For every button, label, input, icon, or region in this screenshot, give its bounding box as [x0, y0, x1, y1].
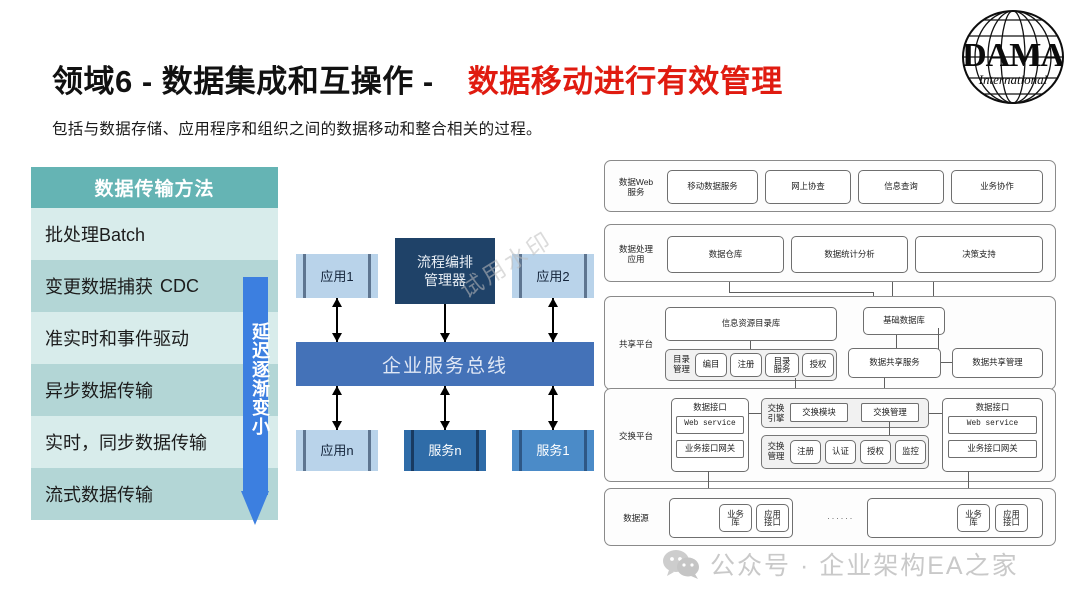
connector-horizontal [729, 292, 874, 293]
arrow-head-up [440, 386, 450, 395]
arch-box-title: 数据接口 [976, 403, 1010, 413]
esb-node-orchestration-manager[interactable]: 流程编排 管理器 [395, 238, 495, 304]
arch-box-exchange-management-top[interactable]: 交换管理 [861, 403, 919, 422]
arrow-head [241, 491, 269, 525]
node-label-line2: 管理器 [424, 271, 466, 289]
arch-box-business-db-right[interactable]: 业务库 [957, 504, 990, 532]
arch-box-data-interface-right[interactable]: 数据接口 [942, 398, 1043, 472]
methods-table-header: 数据传输方法 [31, 167, 278, 208]
arch-box-business-gateway-right[interactable]: 业务接口网关 [948, 440, 1037, 458]
layer-label-share-platform: 共享平台 [613, 339, 659, 349]
arrow-head-down [548, 333, 558, 342]
node-edge-bar [303, 254, 306, 298]
arch-box-app-interface-left[interactable]: 应用接口 [756, 504, 789, 532]
arch-box-business-db-left[interactable]: 业务库 [719, 504, 752, 532]
esb-node-app2[interactable]: 应用2 [512, 254, 594, 298]
connector-bus-servicen [440, 386, 451, 430]
method-label: 变更数据捕获 [45, 273, 153, 299]
dama-international-logo: DAMA International [954, 4, 1072, 110]
arch-box-register-ex[interactable]: 注册 [790, 440, 821, 464]
arch-box-register[interactable]: 注册 [730, 353, 762, 377]
arch-box-data-share-service[interactable]: 数据共享服务 [848, 348, 941, 378]
arch-box-authorization[interactable]: 授权 [802, 353, 834, 377]
layer-label-exchange-platform: 交换平台 [613, 431, 659, 441]
arch-box-decision-support[interactable]: 决策支持 [915, 236, 1043, 273]
data-exchange-architecture-diagram: 数据Web 服务 移动数据服务 网上协查 信息查询 业务协作 数据处理 应用 [604, 160, 1056, 552]
layer-label-data-source: 数据源 [613, 513, 659, 523]
wechat-watermark: 公众号 · 企业架构EA之家 [662, 546, 1019, 582]
esb-diagram: 应用1 流程编排 管理器 应用2 企业服务总线 [296, 238, 594, 490]
node-edge-bar [584, 254, 587, 298]
method-label: 批处理Batch [45, 221, 145, 247]
arrow-head-up [332, 298, 342, 307]
arch-layer-web-service: 数据Web 服务 移动数据服务 网上协查 信息查询 业务协作 [604, 160, 1056, 212]
page-title: 领域6 - 数据集成和互操作 - 数据移动进行有效管理 [52, 56, 783, 101]
arch-group-label-exchange-engine: 交换引擎 [765, 404, 787, 423]
node-edge-bar [303, 430, 306, 471]
node-label: 服务n [428, 443, 461, 458]
arch-layer-data-source: 数据源 业务库 应用接口 ······ 业务库 应用接口 [604, 488, 1056, 546]
arrow-head-down [440, 333, 450, 342]
connector-vertical [938, 328, 939, 349]
latency-decreasing-arrow: 延迟逐渐变小 [241, 277, 270, 525]
arrow-head-up [548, 386, 558, 395]
node-edge-bar [476, 430, 479, 471]
arch-group-label-exchange-management: 交换管理 [765, 442, 787, 461]
latency-arrow-label: 延迟逐渐变小 [241, 289, 270, 469]
slide-root: 领域6 - 数据集成和互操作 - 数据移动进行有效管理 包括与数据存储、应用程序… [0, 0, 1080, 608]
arch-box-data-interface-left[interactable]: 数据接口 [671, 398, 749, 472]
node-edge-bar [411, 430, 414, 471]
method-label: 实时，同步数据传输 [45, 429, 207, 455]
arch-box-cataloging[interactable]: 编目 [695, 353, 727, 377]
arch-box-catalog-service[interactable]: 目录服务 [765, 353, 799, 377]
arch-box-authorization-ex[interactable]: 授权 [860, 440, 891, 464]
arch-box-online-collab-check[interactable]: 网上协查 [765, 170, 851, 204]
wechat-watermark-text: 公众号 · 企业架构EA之家 [710, 546, 1019, 582]
layer-label-data-processing: 数据处理 应用 [613, 244, 659, 264]
arch-box-monitoring[interactable]: 监控 [895, 440, 926, 464]
method-label-suffix: CDC [160, 276, 199, 297]
esb-node-service1[interactable]: 服务1 [512, 430, 594, 471]
arrow-head-up [548, 298, 558, 307]
node-label: 应用1 [320, 269, 353, 284]
connector-vertical [889, 422, 890, 436]
arch-box-mobile-data-service[interactable]: 移动数据服务 [667, 170, 758, 204]
arrow-head-up [332, 386, 342, 395]
method-label: 异步数据传输 [45, 377, 153, 403]
connector-app1-bus [332, 298, 343, 342]
connector-app2-bus [548, 298, 559, 342]
arch-box-exchange-module[interactable]: 交换模块 [790, 403, 848, 422]
arch-box-data-warehouse[interactable]: 数据仓库 [667, 236, 784, 273]
node-label: 应用n [320, 443, 353, 458]
arch-ellipsis: ······ [827, 513, 854, 523]
arrow-head-down [440, 421, 450, 430]
title-main-text: 领域6 - 数据集成和互操作 - [52, 56, 434, 101]
arch-box-base-database[interactable]: 基础数据库 [863, 307, 945, 335]
arch-box-app-interface-right[interactable]: 应用接口 [995, 504, 1028, 532]
arch-box-business-collab[interactable]: 业务协作 [951, 170, 1043, 204]
connector-horizontal [929, 413, 942, 414]
page-subtitle: 包括与数据存储、应用程序和组织之间的数据移动和整合相关的过程。 [52, 117, 542, 139]
connector-bus-service1 [548, 386, 559, 430]
node-edge-bar [519, 254, 522, 298]
node-label: 应用2 [536, 269, 569, 284]
layer-label-web-service: 数据Web 服务 [613, 177, 659, 197]
method-label: 流式数据传输 [45, 481, 153, 507]
esb-node-appn[interactable]: 应用n [296, 430, 378, 471]
node-edge-bar [368, 430, 371, 471]
node-label-line1: 流程编排 [417, 253, 473, 271]
node-edge-bar [584, 430, 587, 471]
title-highlight-text: 数据移动进行有效管理 [468, 56, 783, 101]
wechat-icon [662, 549, 700, 579]
connector-vertical [896, 335, 897, 349]
arch-layer-share-platform: 共享平台 信息资源目录库 目录管理 编目 注册 目录服务 授权 基础数据库 [604, 296, 1056, 390]
arch-box-business-gateway-left[interactable]: 业务接口网关 [676, 440, 744, 458]
arch-group-label-catalog-management: 目录管理 [669, 355, 694, 374]
enterprise-service-bus[interactable]: 企业服务总线 [296, 342, 594, 386]
arch-box-webservice-left[interactable]: Web service [676, 416, 744, 434]
arch-box-data-statistics[interactable]: 数据统计分析 [791, 236, 908, 273]
arch-box-data-share-management[interactable]: 数据共享管理 [952, 348, 1043, 378]
svg-text:International: International [978, 72, 1048, 87]
node-edge-bar [368, 254, 371, 298]
connector-orchestrator-bus [440, 304, 451, 342]
arrow-head-down [332, 421, 342, 430]
arch-box-info-resource-catalog-db[interactable]: 信息资源目录库 [665, 307, 837, 341]
method-label: 准实时和事件驱动 [45, 325, 189, 351]
node-edge-bar [519, 430, 522, 471]
arch-layer-data-processing: 数据处理 应用 数据仓库 数据统计分析 决策支持 [604, 224, 1056, 282]
arch-box-title: 数据接口 [693, 403, 727, 413]
arch-layer-exchange-platform: 交换平台 数据接口 Web service 业务接口网关 交换引擎 交换模块 交… [604, 388, 1056, 482]
node-label: 服务1 [536, 443, 569, 458]
arrow-head-down [332, 333, 342, 342]
bus-label: 企业服务总线 [382, 351, 508, 378]
esb-node-servicen[interactable]: 服务n [404, 430, 486, 471]
connector-bus-appn [332, 386, 343, 430]
arch-box-webservice-right[interactable]: Web service [948, 416, 1037, 434]
esb-node-app1[interactable]: 应用1 [296, 254, 378, 298]
arch-box-authentication[interactable]: 认证 [825, 440, 856, 464]
method-row-batch[interactable]: 批处理Batch [31, 208, 278, 260]
arch-box-info-query[interactable]: 信息查询 [858, 170, 944, 204]
svg-text:DAMA: DAMA [962, 37, 1065, 74]
arrow-head-down [548, 421, 558, 430]
